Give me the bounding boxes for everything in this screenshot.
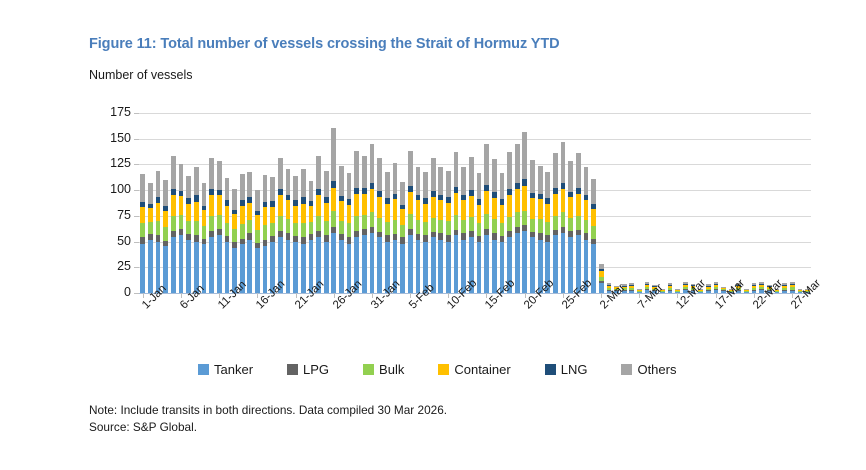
bar-segment-container: [561, 189, 566, 212]
bar-segment-bulk: [278, 216, 283, 231]
stacked-bar[interactable]: [530, 160, 535, 293]
bar-segment-container: [217, 195, 222, 215]
bar-segment-tanker: [209, 237, 214, 293]
bar-segment-tanker: [454, 235, 459, 293]
bar-slot[interactable]: [422, 113, 430, 293]
bar-segment-container: [232, 214, 237, 229]
legend-swatch-icon: [287, 364, 298, 375]
legend-item-others[interactable]: Others: [621, 362, 676, 377]
stacked-bar[interactable]: [568, 161, 573, 293]
bar-segment-bulk: [438, 220, 443, 233]
bar-slot[interactable]: [277, 113, 285, 293]
bar-segment-others: [278, 158, 283, 189]
stacked-bar[interactable]: [370, 144, 375, 293]
stacked-bar[interactable]: [186, 176, 191, 293]
stacked-bar[interactable]: [545, 172, 550, 293]
bar-segment-others: [522, 132, 527, 179]
stacked-bar[interactable]: [431, 158, 436, 293]
bar-segment-container: [500, 205, 505, 224]
bar-slot[interactable]: [315, 113, 323, 293]
stacked-bar[interactable]: [454, 152, 459, 293]
stacked-bar[interactable]: [522, 132, 527, 293]
stacked-bar[interactable]: [484, 144, 489, 293]
bar-slot[interactable]: [299, 113, 307, 293]
bar-segment-bulk: [255, 230, 260, 242]
bar-segment-container: [431, 197, 436, 218]
bar-slot[interactable]: [345, 113, 353, 293]
stacked-bar[interactable]: [438, 167, 443, 293]
legend-swatch-icon: [198, 364, 209, 375]
legend-swatch-icon: [545, 364, 556, 375]
bar-slot[interactable]: [750, 113, 758, 293]
bar-slot[interactable]: [284, 113, 292, 293]
stacked-bar[interactable]: [752, 283, 757, 293]
bar-segment-container: [270, 207, 275, 223]
bar-slot[interactable]: [162, 113, 170, 293]
bar-slot[interactable]: [376, 113, 384, 293]
stacked-bar[interactable]: [194, 167, 199, 293]
bar-segment-others: [309, 181, 314, 202]
bar-slot[interactable]: [521, 113, 529, 293]
bar-slot[interactable]: [720, 113, 728, 293]
bar-slot[interactable]: [674, 113, 682, 293]
bar-segment-others: [270, 177, 275, 202]
bar-slot[interactable]: [513, 113, 521, 293]
bar-slot[interactable]: [529, 113, 537, 293]
stacked-bar[interactable]: [576, 153, 581, 293]
stacked-bar[interactable]: [339, 166, 344, 294]
bar-segment-others: [354, 151, 359, 188]
bar-slot[interactable]: [597, 113, 605, 293]
x-axis-tick: [334, 293, 335, 298]
bar-slot[interactable]: [605, 113, 613, 293]
stacked-bar[interactable]: [591, 179, 596, 293]
bar-slot[interactable]: [727, 113, 735, 293]
bar-segment-others: [377, 158, 382, 191]
stacked-bar[interactable]: [156, 171, 161, 293]
bar-slot[interactable]: [582, 113, 590, 293]
bar-segment-container: [408, 192, 413, 214]
bar-segment-container: [446, 203, 451, 222]
bar-segment-others: [347, 173, 352, 200]
stacked-bar[interactable]: [202, 183, 207, 293]
bar-slot[interactable]: [269, 113, 277, 293]
bar-segment-bulk: [293, 223, 298, 236]
stacked-bar[interactable]: [385, 172, 390, 293]
stacked-bar[interactable]: [324, 171, 329, 293]
bar-slot[interactable]: [361, 113, 369, 293]
bar-slot[interactable]: [613, 113, 621, 293]
stacked-bar[interactable]: [225, 178, 230, 293]
bar-segment-others: [385, 172, 390, 199]
stacked-bar[interactable]: [278, 158, 283, 293]
stacked-bar[interactable]: [171, 156, 176, 293]
bar-segment-others: [156, 171, 161, 198]
bar-slot[interactable]: [452, 113, 460, 293]
bar-slot[interactable]: [468, 113, 476, 293]
stacked-bar[interactable]: [584, 167, 589, 293]
bar-segment-bulk: [454, 215, 459, 230]
bar-segment-others: [561, 142, 566, 183]
bar-segment-container: [263, 207, 268, 226]
y-axis-tick-label: 125: [93, 156, 131, 170]
stacked-bar[interactable]: [140, 174, 145, 293]
bar-segment-others: [171, 156, 176, 189]
bar-segment-others: [545, 172, 550, 199]
bar-slot[interactable]: [307, 113, 315, 293]
stacked-bar[interactable]: [347, 173, 352, 293]
bar-slot[interactable]: [154, 113, 162, 293]
bar-slot[interactable]: [666, 113, 674, 293]
bar-slot[interactable]: [353, 113, 361, 293]
bar-slot[interactable]: [758, 113, 766, 293]
bar-segment-others: [576, 153, 581, 188]
stacked-bar[interactable]: [561, 142, 566, 293]
bar-slot[interactable]: [651, 113, 659, 293]
bar-segment-container: [194, 202, 199, 222]
stacked-bar[interactable]: [362, 156, 367, 293]
bar-slot[interactable]: [773, 113, 781, 293]
bar-slot[interactable]: [681, 113, 689, 293]
bar-segment-container: [209, 195, 214, 216]
bar-segment-bulk: [286, 219, 291, 233]
figure-container: Figure 11: Total number of vessels cross…: [0, 0, 866, 470]
bar-segment-others: [507, 152, 512, 189]
bar-slot[interactable]: [231, 113, 239, 293]
bar-slot[interactable]: [223, 113, 231, 293]
bar-slot[interactable]: [620, 113, 628, 293]
stacked-bar[interactable]: [217, 161, 222, 293]
bar-slot[interactable]: [788, 113, 796, 293]
legend-item-lpg[interactable]: LPG: [287, 362, 329, 377]
legend-item-container[interactable]: Container: [438, 362, 510, 377]
bar-slot[interactable]: [330, 113, 338, 293]
x-axis-tick: [563, 293, 564, 298]
bar-slot[interactable]: [590, 113, 598, 293]
bar-segment-tanker: [599, 283, 604, 293]
bar-segment-bulk: [171, 216, 176, 231]
bar-segment-others: [179, 164, 184, 191]
bar-slot[interactable]: [475, 113, 483, 293]
stacked-bar[interactable]: [209, 158, 214, 293]
stacked-bar[interactable]: [247, 172, 252, 293]
legend-item-tanker[interactable]: Tanker: [198, 362, 253, 377]
bar-slot[interactable]: [338, 113, 346, 293]
stacked-bar[interactable]: [446, 171, 451, 293]
bar-slot[interactable]: [391, 113, 399, 293]
stacked-bar[interactable]: [148, 183, 153, 293]
bar-segment-tanker: [377, 237, 382, 293]
stacked-bar[interactable]: [423, 172, 428, 293]
stacked-bar[interactable]: [629, 283, 634, 293]
bar-segment-others: [584, 167, 589, 196]
legend-swatch-icon: [363, 364, 374, 375]
bar-slot[interactable]: [406, 113, 414, 293]
bar-slot[interactable]: [185, 113, 193, 293]
bar-segment-tanker: [148, 240, 153, 293]
bar-segment-lng: [331, 181, 336, 188]
bar-segment-bulk: [225, 223, 230, 236]
bar-segment-container: [454, 193, 459, 215]
bar-segment-container: [584, 200, 589, 220]
bar-slot[interactable]: [689, 113, 697, 293]
bar-segment-others: [553, 153, 558, 188]
bar-slot[interactable]: [643, 113, 651, 293]
bar-segment-others: [362, 156, 367, 188]
bar-segment-others: [530, 160, 535, 193]
bar-segment-tanker: [416, 240, 421, 293]
bar-slot[interactable]: [368, 113, 376, 293]
bar-segment-bulk: [186, 221, 191, 234]
bar-segment-bulk: [584, 220, 589, 233]
bar-segment-container: [293, 206, 298, 223]
bar-segment-others: [255, 190, 260, 211]
bar-segment-container: [301, 204, 306, 224]
stacked-bar[interactable]: [179, 164, 184, 293]
bar-segment-container: [477, 205, 482, 224]
bar-slot[interactable]: [704, 113, 712, 293]
bar-segment-others: [217, 161, 222, 190]
bar-slot[interactable]: [743, 113, 751, 293]
bar-slot[interactable]: [414, 113, 422, 293]
bar-segment-tanker: [484, 235, 489, 293]
bar-segment-tanker: [293, 242, 298, 293]
bar-slot[interactable]: [552, 113, 560, 293]
bar-segment-container: [309, 206, 314, 222]
bar-segment-tanker: [438, 240, 443, 293]
bar-segment-container: [347, 205, 352, 224]
stacked-bar[interactable]: [538, 166, 543, 294]
stacked-bar[interactable]: [301, 169, 306, 293]
bar-segment-others: [461, 167, 466, 196]
bar-slot[interactable]: [498, 113, 506, 293]
stacked-bar[interactable]: [668, 283, 673, 293]
stacked-bar[interactable]: [469, 157, 474, 293]
bar-slot[interactable]: [636, 113, 644, 293]
bar-slot[interactable]: [170, 113, 178, 293]
stacked-bar[interactable]: [286, 169, 291, 293]
bar-slot[interactable]: [238, 113, 246, 293]
bar-slot[interactable]: [536, 113, 544, 293]
bar-segment-bulk: [362, 215, 367, 229]
bar-segment-tanker: [217, 235, 222, 293]
bar-slot[interactable]: [246, 113, 254, 293]
bar-segment-others: [194, 167, 199, 196]
bar-segment-others: [538, 166, 543, 195]
bar-segment-container: [148, 208, 153, 222]
bar-segment-container: [225, 206, 230, 223]
stacked-bar[interactable]: [316, 156, 321, 293]
bar-slot[interactable]: [735, 113, 743, 293]
stacked-bar[interactable]: [400, 182, 405, 293]
stacked-bar[interactable]: [507, 152, 512, 293]
stacked-bar[interactable]: [790, 282, 795, 293]
bar-slot[interactable]: [429, 113, 437, 293]
bar-segment-container: [362, 194, 367, 215]
bar-segment-bulk: [232, 229, 237, 241]
stacked-bar[interactable]: [240, 174, 245, 293]
bar-segment-others: [446, 171, 451, 198]
bar-segment-container: [469, 196, 474, 217]
bar-slot[interactable]: [445, 113, 453, 293]
stacked-bar[interactable]: [416, 167, 421, 293]
stacked-bar[interactable]: [255, 190, 260, 293]
bar-segment-bulk: [156, 221, 161, 235]
bar-segment-container: [492, 198, 497, 219]
stacked-bar[interactable]: [163, 180, 168, 293]
legend-label: Container: [454, 362, 510, 377]
bar-slot[interactable]: [292, 113, 300, 293]
stacked-bar[interactable]: [500, 173, 505, 293]
bar-segment-container: [247, 203, 252, 220]
bar-segment-container: [186, 204, 191, 221]
legend-label: LPG: [303, 362, 329, 377]
bar-segment-others: [247, 172, 252, 198]
stacked-bar[interactable]: [270, 177, 275, 293]
bar-slot[interactable]: [575, 113, 583, 293]
x-axis-tick: [754, 293, 755, 298]
bar-segment-bulk: [370, 212, 375, 227]
bar-segment-others: [408, 151, 413, 186]
bar-segment-others: [286, 169, 291, 196]
bar-slot[interactable]: [460, 113, 468, 293]
bar-segment-others: [186, 176, 191, 199]
bar-segment-others: [301, 169, 306, 198]
bar-slot[interactable]: [254, 113, 262, 293]
bar-segment-others: [339, 166, 344, 197]
bar-segment-container: [400, 209, 405, 225]
bar-segment-bulk: [354, 216, 359, 231]
bar-segment-bulk: [247, 220, 252, 233]
bar-segment-tanker: [408, 235, 413, 293]
bar-segment-tanker: [568, 237, 573, 293]
bar-slot[interactable]: [766, 113, 774, 293]
stacked-bar[interactable]: [408, 151, 413, 293]
bar-segment-others: [316, 156, 321, 189]
bar-segment-container: [354, 194, 359, 216]
bar-slot[interactable]: [437, 113, 445, 293]
y-axis-tick-label: 150: [93, 131, 131, 145]
bar-segment-others: [293, 176, 298, 201]
stacked-bar[interactable]: [232, 189, 237, 293]
stacked-bar[interactable]: [599, 264, 604, 293]
bar-slot[interactable]: [506, 113, 514, 293]
bar-slot[interactable]: [147, 113, 155, 293]
bar-slot[interactable]: [200, 113, 208, 293]
bar-segment-bulk: [522, 211, 527, 225]
note-text: Note: Include transits in both direction…: [89, 402, 447, 419]
bar-slot[interactable]: [208, 113, 216, 293]
bar-slot[interactable]: [804, 113, 812, 293]
y-axis-tick-label: 175: [93, 105, 131, 119]
bar-segment-tanker: [247, 240, 252, 293]
stacked-bar[interactable]: [553, 153, 558, 293]
bar-slot[interactable]: [781, 113, 789, 293]
bar-slot[interactable]: [796, 113, 804, 293]
bar-slot[interactable]: [384, 113, 392, 293]
bar-slot[interactable]: [559, 113, 567, 293]
bar-slot[interactable]: [215, 113, 223, 293]
bar-segment-container: [576, 194, 581, 216]
bar-segment-bulk: [270, 223, 275, 236]
stacked-bar[interactable]: [263, 175, 268, 293]
bar-slot[interactable]: [483, 113, 491, 293]
bar-segment-bulk: [217, 215, 222, 229]
bar-slot[interactable]: [659, 113, 667, 293]
bar-segment-tanker: [140, 244, 145, 293]
bar-segment-container: [370, 189, 375, 212]
bar-segment-bulk: [194, 221, 199, 235]
bar-segment-others: [492, 159, 497, 192]
bar-slot[interactable]: [628, 113, 636, 293]
stacked-bar[interactable]: [331, 128, 336, 293]
bar-segment-others: [240, 174, 245, 201]
bar-segment-others: [370, 144, 375, 183]
stacked-bar[interactable]: [477, 173, 482, 293]
y-axis-tick-label: 50: [93, 234, 131, 248]
bar-segment-bulk: [484, 214, 489, 229]
stacked-bar[interactable]: [309, 181, 314, 293]
bar-slot[interactable]: [567, 113, 575, 293]
stacked-bar[interactable]: [354, 151, 359, 293]
x-axis-tick: [296, 293, 297, 298]
bar-segment-tanker: [171, 237, 176, 293]
bar-segment-bulk: [416, 220, 421, 234]
y-axis-tick-label: 100: [93, 182, 131, 196]
stacked-bar[interactable]: [293, 176, 298, 293]
bar-slot[interactable]: [712, 113, 720, 293]
bar-slot[interactable]: [544, 113, 552, 293]
bar-segment-tanker: [225, 242, 230, 293]
legend-item-lng[interactable]: LNG: [545, 362, 588, 377]
bar-segment-bulk: [385, 222, 390, 235]
y-axis-tick-label: 75: [93, 208, 131, 222]
bar-slot[interactable]: [192, 113, 200, 293]
stacked-bar[interactable]: [393, 163, 398, 293]
stacked-bar[interactable]: [714, 282, 719, 293]
bar-segment-tanker: [446, 242, 451, 293]
legend-item-bulk[interactable]: Bulk: [363, 362, 404, 377]
stacked-bar[interactable]: [461, 167, 466, 293]
bar-slot[interactable]: [490, 113, 498, 293]
bar-slot[interactable]: [399, 113, 407, 293]
bar-segment-others: [140, 174, 145, 202]
bar-segment-container: [331, 188, 336, 211]
bar-slot[interactable]: [177, 113, 185, 293]
bar-segment-container: [507, 195, 512, 217]
bar-slot[interactable]: [697, 113, 705, 293]
y-axis-tick-label: 25: [93, 259, 131, 273]
bar-segment-container: [461, 200, 466, 220]
bar-slot[interactable]: [139, 113, 147, 293]
bar-segment-bulk: [408, 214, 413, 229]
bar-segment-tanker: [255, 248, 260, 293]
stacked-bar[interactable]: [377, 158, 382, 293]
bar-segment-others: [324, 171, 329, 198]
bar-segment-container: [255, 215, 260, 230]
stacked-bar[interactable]: [492, 159, 497, 293]
bar-slot[interactable]: [322, 113, 330, 293]
bar-slot[interactable]: [261, 113, 269, 293]
bar-segment-bulk: [324, 221, 329, 235]
bar-segment-tanker: [186, 240, 191, 293]
bar-segment-bulk: [163, 227, 168, 240]
bar-segment-bulk: [568, 218, 573, 231]
bar-segment-bulk: [507, 217, 512, 231]
bar-segment-others: [515, 144, 520, 183]
stacked-bar[interactable]: [515, 144, 520, 293]
bar-segment-bulk: [309, 222, 314, 234]
